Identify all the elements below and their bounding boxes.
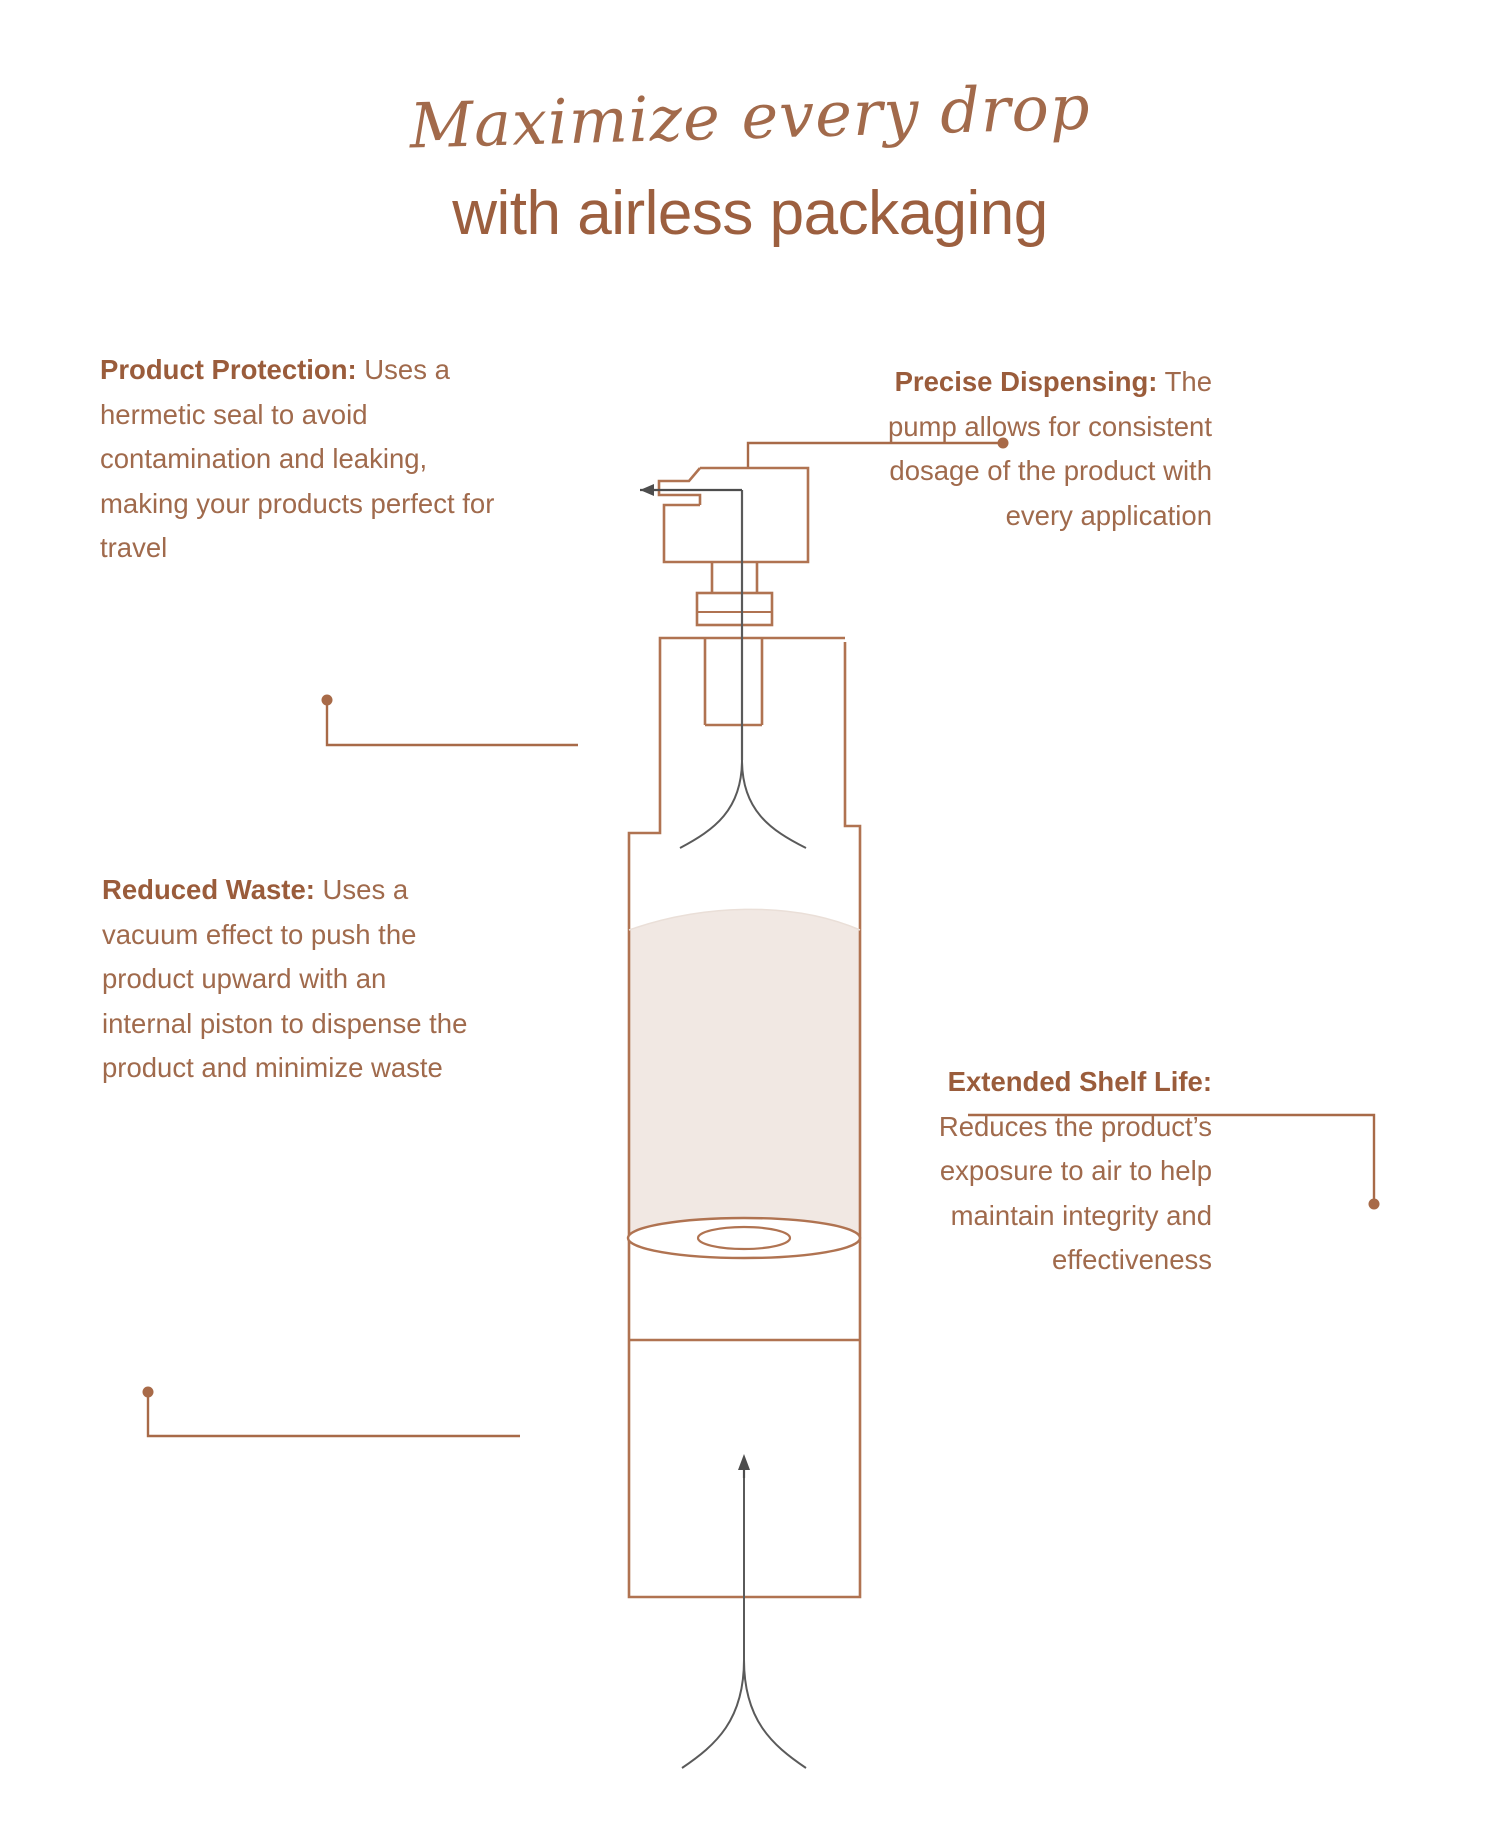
callout-reduced-waste: Reduced Waste: Uses a vacuum effect to p… — [102, 868, 474, 1091]
callout-heading-reduced-waste: Reduced Waste: — [102, 874, 315, 905]
pump-nozzle-spout — [659, 468, 700, 505]
callout-precise-dispensing: Precise Dispensing: The pump allows for … — [882, 360, 1212, 538]
bottle-shoulder-left — [629, 642, 660, 838]
infographic-canvas: Maximize every drop with airless packagi… — [0, 0, 1500, 1847]
callout-heading-precise-dispensing: Precise Dispensing: — [895, 366, 1158, 397]
pump-stem — [712, 562, 757, 593]
internal-piston-inner-ring — [698, 1227, 790, 1249]
suction-curl-left — [680, 760, 742, 848]
product-flow-up-arrow — [738, 1454, 750, 1660]
callout-body-extended-shelf-life: Reduces the product’s exposure to air to… — [939, 1111, 1212, 1276]
pump-inner-cylinder — [705, 638, 762, 725]
callout-extended-shelf-life: Extended Shelf Life: Reduces the product… — [882, 1060, 1212, 1283]
connector-dot-reduced-waste — [143, 1387, 154, 1398]
pump-collar — [697, 593, 772, 625]
air-intake-curl-right — [744, 1660, 806, 1768]
bottle-neck-top — [660, 638, 845, 642]
connector-dot-extended-shelf-life — [1369, 1199, 1380, 1210]
pump-head-base — [664, 540, 808, 562]
callout-body-product-protection: Uses a hermetic seal to avoid contaminat… — [100, 354, 494, 563]
callout-product-protection: Product Protection: Uses a hermetic seal… — [100, 348, 500, 571]
bottle-shoulder-right — [845, 642, 860, 838]
connector-product-protection — [322, 695, 579, 746]
air-intake-curl-left — [682, 1660, 744, 1768]
suction-curl-right — [742, 760, 806, 848]
connector-dot-product-protection — [322, 695, 333, 706]
pump-head-left — [664, 505, 700, 540]
callout-heading-extended-shelf-life: Extended Shelf Life: — [948, 1066, 1212, 1097]
liquid-reservoir — [629, 909, 862, 1240]
connector-reduced-waste — [143, 1387, 521, 1437]
pump-head-right — [700, 468, 808, 540]
callout-heading-product-protection: Product Protection: — [100, 354, 357, 385]
callout-body-reduced-waste: Uses a vacuum effect to push the product… — [102, 874, 467, 1083]
